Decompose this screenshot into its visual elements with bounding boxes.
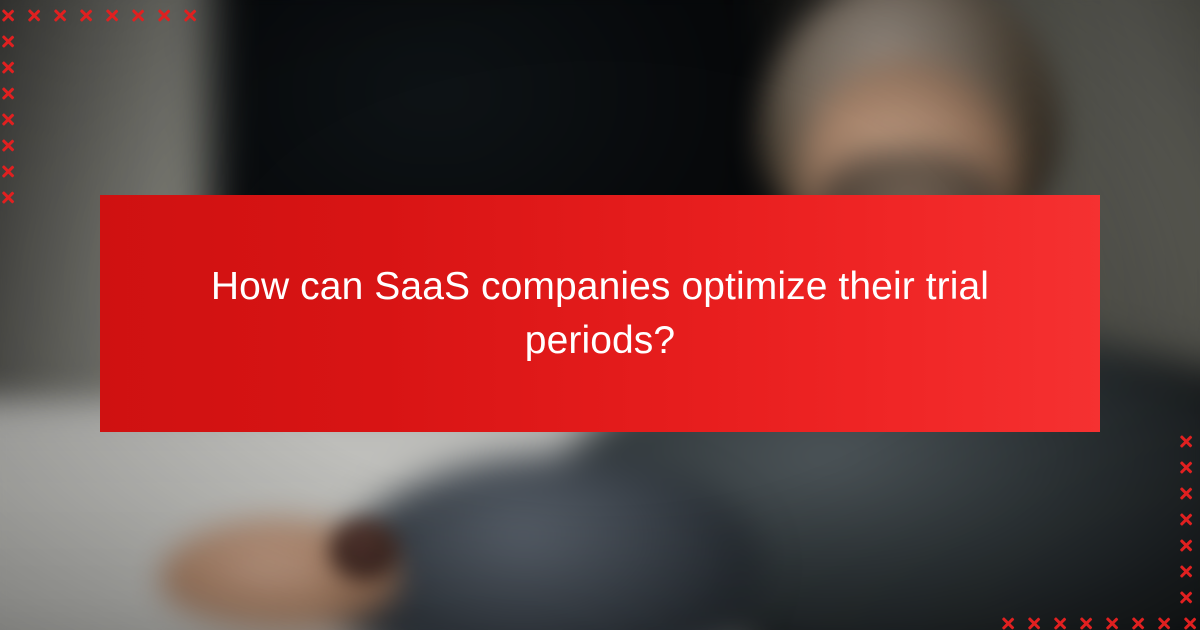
decorative-x-icon <box>156 8 171 23</box>
decorative-x-icon <box>1178 590 1193 605</box>
headline-banner: How can SaaS companies optimize their tr… <box>100 195 1100 432</box>
decorative-x-icon <box>0 60 15 75</box>
decorative-x-icon <box>1182 616 1197 630</box>
decorative-x-icon <box>1078 616 1093 630</box>
decorative-x-icon <box>1178 460 1193 475</box>
decorative-x-icon <box>0 34 15 49</box>
decorative-x-icon <box>26 8 41 23</box>
decorative-x-icon <box>0 190 15 205</box>
decorative-x-icon <box>0 86 15 101</box>
decorative-x-icon <box>78 8 93 23</box>
decorative-x-icon <box>0 8 15 23</box>
decorative-x-icon <box>1178 486 1193 501</box>
decorative-x-icon <box>1178 538 1193 553</box>
headline-text: How can SaaS companies optimize their tr… <box>210 260 990 368</box>
decorative-x-icon <box>1178 564 1193 579</box>
decorative-x-icon <box>1156 616 1171 630</box>
decorative-x-icon <box>1104 616 1119 630</box>
social-share-card: How can SaaS companies optimize their tr… <box>0 0 1200 630</box>
decorative-x-icon <box>1178 434 1193 449</box>
decorative-x-icon <box>1130 616 1145 630</box>
decorative-x-icon <box>1026 616 1041 630</box>
decorative-x-icon <box>130 8 145 23</box>
decorative-x-icon <box>104 8 119 23</box>
decorative-x-icon <box>1052 616 1067 630</box>
decorative-x-icon <box>1000 616 1015 630</box>
decorative-x-icon <box>182 8 197 23</box>
decorative-x-icon <box>0 112 15 127</box>
decorative-x-icon <box>0 164 15 179</box>
decorative-x-icon <box>1178 512 1193 527</box>
decorative-x-icon <box>0 138 15 153</box>
decorative-x-icon <box>52 8 67 23</box>
